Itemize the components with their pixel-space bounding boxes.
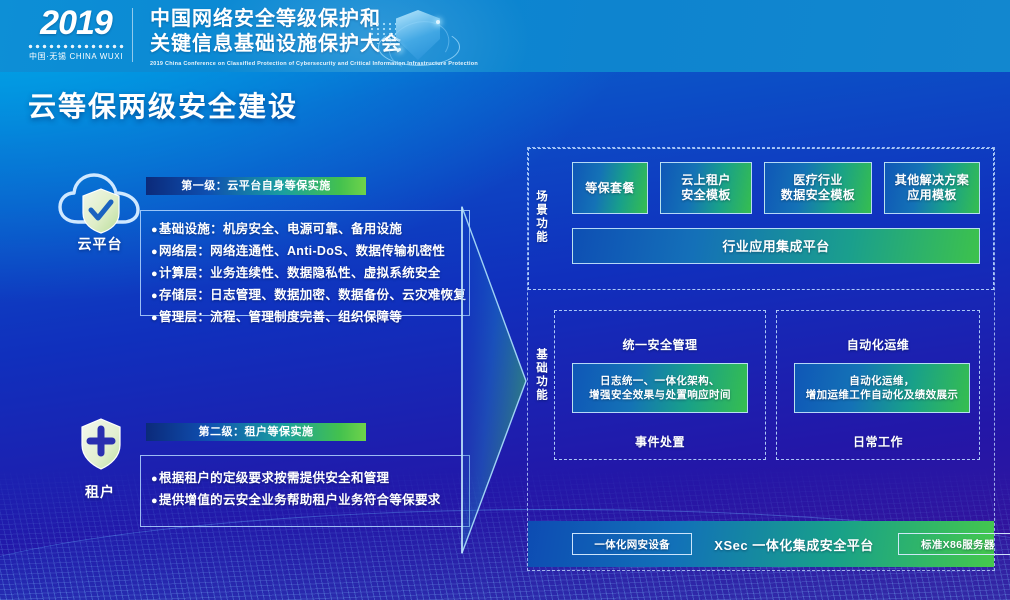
spark-icon xyxy=(436,20,440,24)
bullet-icon: ● xyxy=(151,495,158,507)
bullet-icon: ● xyxy=(151,224,158,236)
bullet-icon: ● xyxy=(151,246,158,258)
conference-year: 2019 xyxy=(28,6,124,40)
tenant-icon-block: 租户 xyxy=(52,418,148,502)
bullet-icon: ● xyxy=(151,473,158,485)
level2-badge: 第二级：租户等保实施 xyxy=(146,423,366,441)
page-title: 云等保两级安全建设 xyxy=(28,85,298,125)
conference-location: 中国·无锡 CHINA WUXI xyxy=(28,52,124,61)
bullet-icon: ● xyxy=(151,312,158,324)
tenant-caption: 租户 xyxy=(52,482,148,502)
shield-plus-icon xyxy=(81,418,121,475)
list-item: ●网络层：网络连通性、Anti-DoS、数据传输机密性 xyxy=(151,241,459,263)
list-item: ●基础设施：机房安全、电源可靠、备用设施 xyxy=(151,219,459,241)
level2-detail-box: ●根据租户的定级要求按需提供安全和管理 ●提供增值的云安全业务帮助租户业务符合等… xyxy=(140,455,470,527)
bullet-icon: ● xyxy=(151,268,158,280)
level1-detail-box: ●基础设施：机房安全、电源可靠、备用设施 ●网络层：网络连通性、Anti-DoS… xyxy=(140,210,470,316)
conference-banner: 2019 中国·无锡 CHINA WUXI 中国网络安全等级保护和 关键信息基础… xyxy=(0,0,1010,72)
banner-shield-graphic xyxy=(370,4,466,70)
list-item: ●计算层：业务连续性、数据隐私性、虚拟系统安全 xyxy=(151,263,459,285)
architecture-panel: 场景功能 等保套餐 云上租户 安全模板 医疗行业 数据安全模板 其他解决方案 应… xyxy=(528,148,994,550)
banner-divider xyxy=(132,8,133,62)
conference-year-block: 2019 中国·无锡 CHINA WUXI xyxy=(28,6,124,61)
list-item: ●管理层：流程、管理制度完善、组织保障等 xyxy=(151,307,459,329)
shield-orbit-ring xyxy=(378,28,460,66)
cloud-platform-icon-block: 云平台 xyxy=(52,172,148,254)
slide-canvas: 2019 中国·无锡 CHINA WUXI 中国网络安全等级保护和 关键信息基础… xyxy=(0,0,1010,600)
shield-check-icon xyxy=(82,188,120,234)
list-item: ●根据租户的定级要求按需提供安全和管理 xyxy=(151,468,459,490)
list-item: ●提供增值的云安全业务帮助租户业务符合等保要求 xyxy=(151,490,459,512)
list-item: ●存储层：日志管理、数据加密、数据备份、云灾难恢复 xyxy=(151,285,459,307)
spark-icon xyxy=(398,48,401,51)
cloud-platform-caption: 云平台 xyxy=(52,234,148,254)
connector-arrow-icon xyxy=(438,205,530,555)
level1-badge: 第一级：云平台自身等保实施 xyxy=(146,177,366,195)
architecture-outer-frame xyxy=(527,147,995,571)
cloud-icon xyxy=(58,172,142,228)
bullet-icon: ● xyxy=(151,290,158,302)
dot-divider xyxy=(28,43,124,50)
